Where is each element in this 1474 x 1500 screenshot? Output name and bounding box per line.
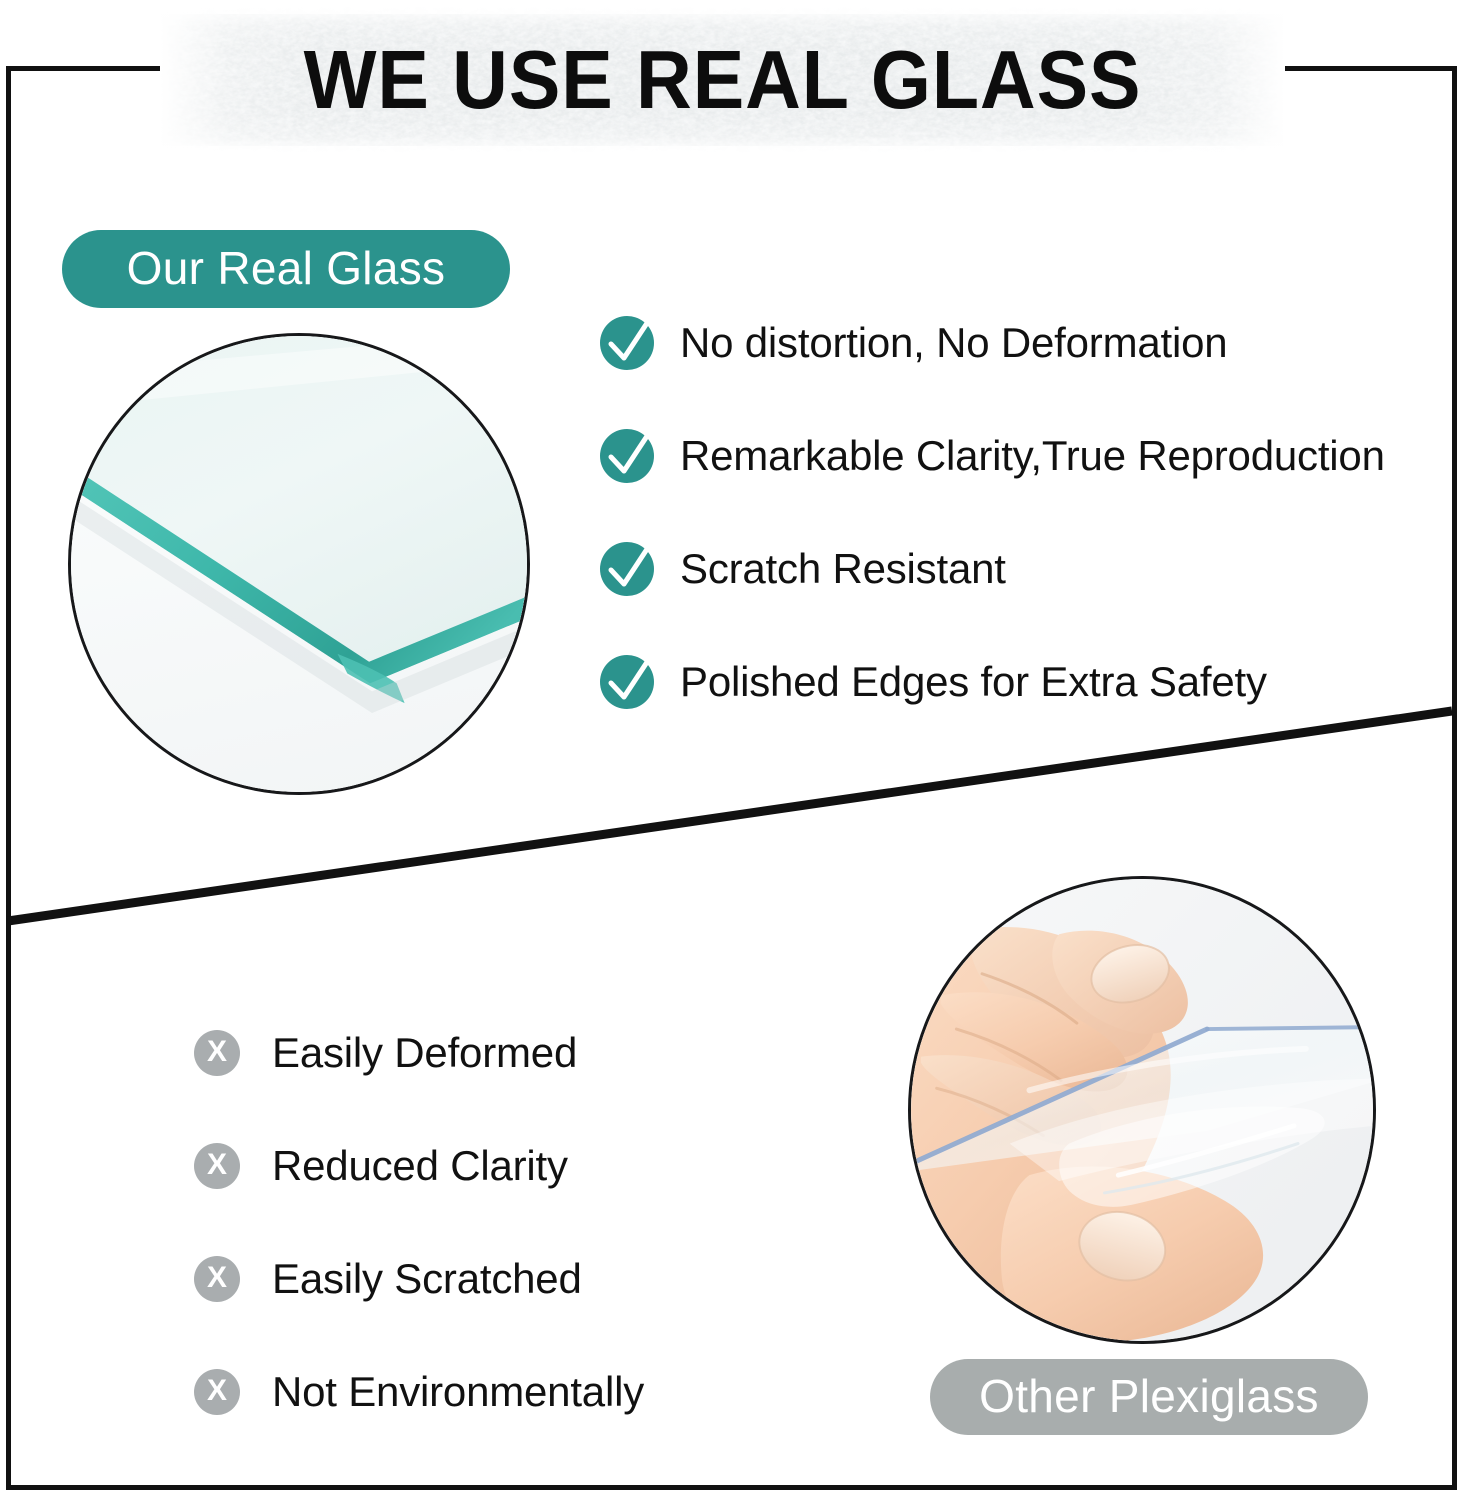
list-item-label: Scratch Resistant [680, 548, 1006, 590]
check-icon [598, 314, 656, 372]
list-item-label: Easily Scratched [272, 1258, 582, 1300]
x-glyph: X [207, 1150, 227, 1180]
x-glyph: X [207, 1037, 227, 1067]
list-item-label: Remarkable Clarity,True Reproduction [680, 435, 1385, 477]
page-title: WE USE REAL GLASS [199, 6, 1245, 154]
list-item-label: Polished Edges for Extra Safety [680, 661, 1267, 703]
list-item: Scratch Resistant [598, 512, 1458, 625]
list-item: X Easily Deformed [194, 996, 834, 1109]
check-icon [598, 540, 656, 598]
real-glass-illustration [71, 336, 527, 792]
badge-our-real-glass: Our Real Glass [62, 230, 510, 308]
x-icon: X [194, 1030, 240, 1076]
list-item-label: Reduced Clarity [272, 1145, 568, 1187]
plexiglass-illustration [911, 879, 1373, 1341]
real-glass-photo [68, 333, 530, 795]
check-icon [598, 653, 656, 711]
check-icon [598, 427, 656, 485]
x-icon: X [194, 1143, 240, 1189]
list-item: X Not Environmentally [194, 1335, 834, 1448]
advantages-list: No distortion, No Deformation Remarkable… [598, 286, 1458, 738]
badge-other-plexiglass: Other Plexiglass [930, 1359, 1368, 1435]
list-item: No distortion, No Deformation [598, 286, 1458, 399]
x-icon: X [194, 1256, 240, 1302]
list-item: Polished Edges for Extra Safety [598, 625, 1458, 738]
list-item: X Reduced Clarity [194, 1109, 834, 1222]
x-icon: X [194, 1369, 240, 1415]
list-item-label: Not Environmentally [272, 1371, 644, 1413]
list-item-label: Easily Deformed [272, 1032, 577, 1074]
list-item: X Easily Scratched [194, 1222, 834, 1335]
list-item-label: No distortion, No Deformation [680, 322, 1227, 364]
list-item: Remarkable Clarity,True Reproduction [598, 399, 1458, 512]
x-glyph: X [207, 1376, 227, 1406]
x-glyph: X [207, 1263, 227, 1293]
disadvantages-list: X Easily Deformed X Reduced Clarity X Ea… [194, 996, 834, 1448]
plexiglass-photo [908, 876, 1376, 1344]
comparison-infographic: WE USE REAL GLASS Our Real Glass [0, 0, 1474, 1500]
